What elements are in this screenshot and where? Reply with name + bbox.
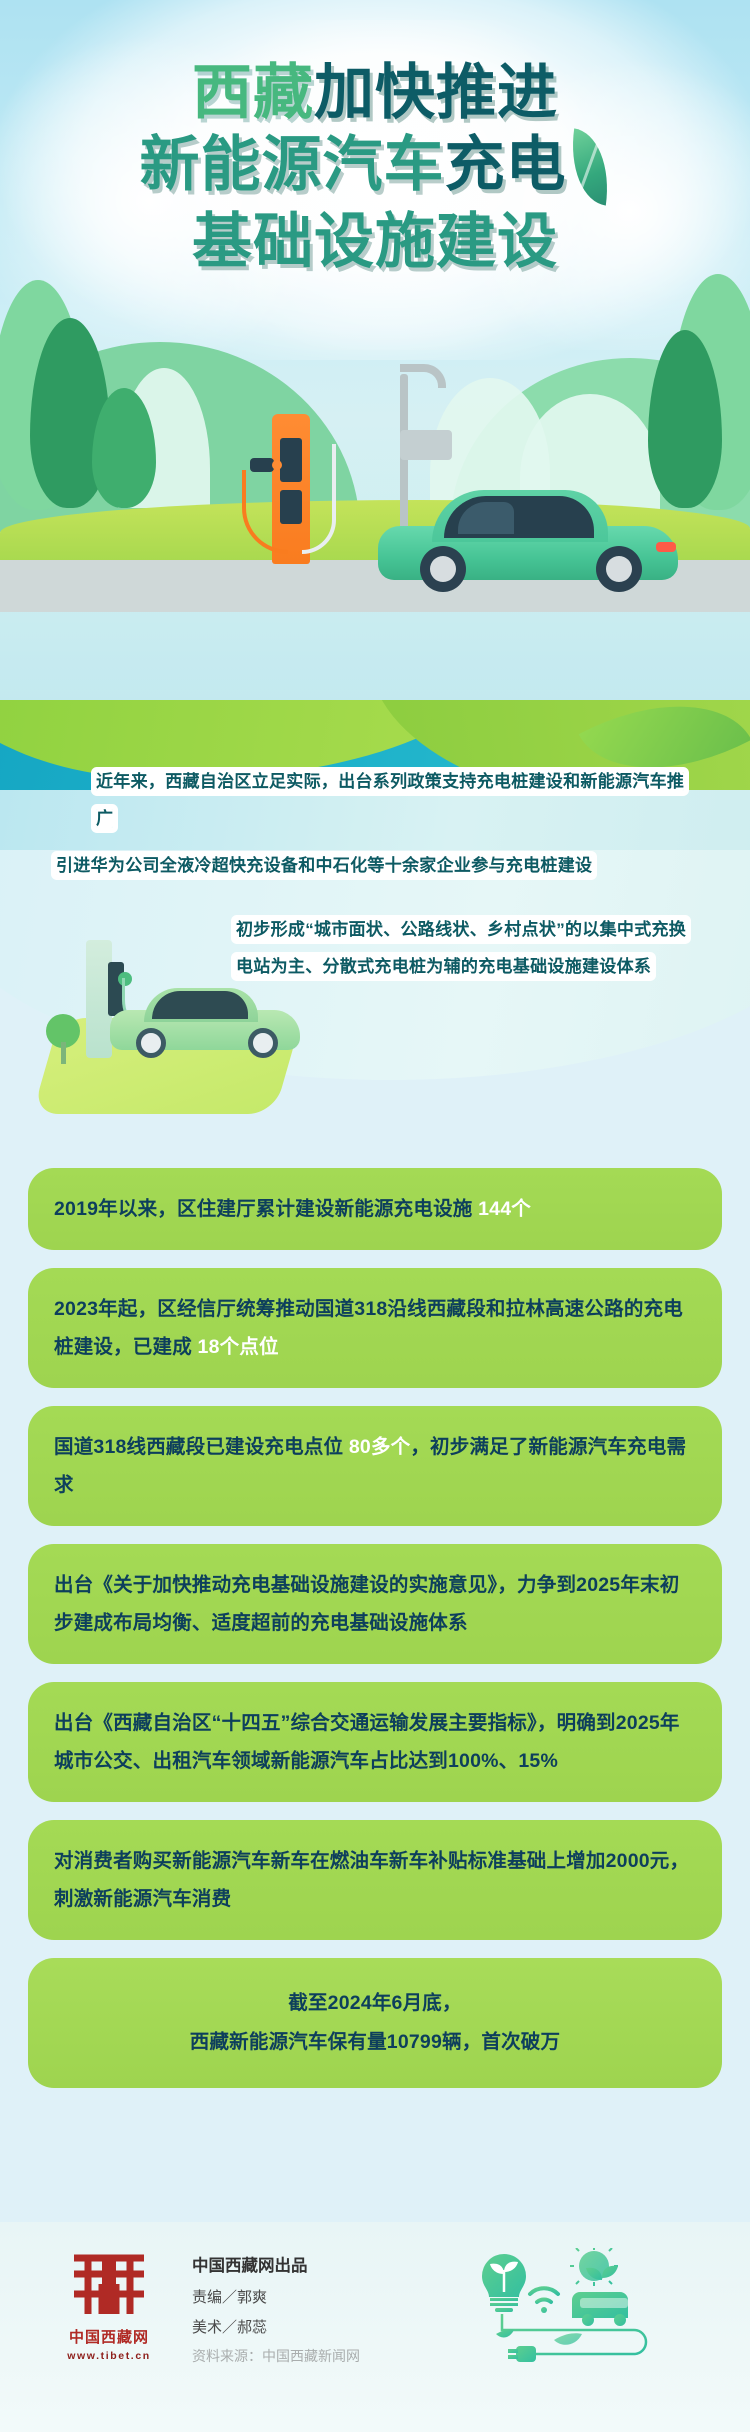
summary-line-1: 截至2024年6月底，: [288, 1992, 461, 2014]
plug-head-icon: [508, 2346, 536, 2362]
footer-art: 美术／郝蕊: [192, 2316, 360, 2337]
title-line1-part1: 西藏: [192, 59, 314, 126]
eco-icons-group: [468, 2248, 658, 2368]
summary-card: 截至2024年6月底， 西藏新能源汽车保有量10799辆，首次破万: [28, 1958, 722, 2088]
logo-url: www.tibet.cn: [54, 2350, 164, 2362]
footer-title: 中国西藏网出品: [192, 2252, 360, 2276]
footer-source: 资料来源：中国西藏新闻网: [192, 2346, 360, 2366]
tree-trunk: [61, 1042, 66, 1064]
intro-paragraph-1: 近年来，西藏自治区立足实际，出台系列政策支持充电桩建设和新能源汽车推广: [96, 764, 696, 837]
intro-section: 近年来，西藏自治区立足实际，出台系列政策支持充电桩建设和新能源汽车推广 引进华为…: [0, 700, 750, 1180]
infographic-page: 西藏加快推进 新能源汽车充电 基础设施建设 近年来，西藏自治区立足实际，出台系列…: [0, 0, 750, 2432]
fact-card: 2019年以来，区住建厅累计建设新能源充电设施 144个: [28, 1168, 722, 1250]
card-text: 国道318线西藏段已建设充电点位: [54, 1436, 349, 1458]
title-line2-part2: 充电: [445, 131, 567, 198]
title-line2-part1: 新能源汽车: [140, 131, 445, 198]
car-wheel: [596, 546, 642, 592]
summary-line-2: 西藏新能源汽车保有量10799辆，首次破万: [190, 2031, 560, 2053]
intro-paragraph-3: 初步形成“城市面状、公路线状、乡村点状”的以集中式充换电站为主、分散式充电桩为辅…: [236, 912, 696, 985]
eco-illustration: [468, 2248, 658, 2368]
wifi-icon: [526, 2288, 562, 2318]
card-text: 出台《关于加快推动充电基础设施建设的实施意见》，力争到2025年末初步建成布局均…: [54, 1574, 679, 1634]
card-highlight: 18个点位: [198, 1336, 279, 1358]
fact-card: 国道318线西藏段已建设充电点位 80多个，初步满足了新能源汽车充电需求: [28, 1406, 722, 1526]
card-text: 出台《西藏自治区“十四五”综合交通运输发展主要指标》，明确到2025年城市公交、…: [54, 1712, 680, 1772]
leaf-icon: [564, 129, 616, 206]
leaf-icon: [554, 2333, 582, 2345]
footer-editor: 责编／郭爽: [192, 2286, 360, 2307]
charging-cable-secondary: [302, 444, 336, 554]
card-text: 2019年以来，区住建厅累计建设新能源充电设施: [54, 1198, 478, 1220]
tibet-net-logo-icon: [62, 2250, 156, 2322]
title-line1-part2: 加快推进: [314, 59, 558, 126]
lightbulb-icon: [482, 2254, 526, 2312]
hero-section: 西藏加快推进 新能源汽车充电 基础设施建设: [0, 0, 750, 760]
card-highlight: 80多个: [349, 1436, 411, 1458]
fact-card: 出台《西藏自治区“十四五”综合交通运输发展主要指标》，明确到2025年城市公交、…: [28, 1682, 722, 1802]
eco-car-icon: [572, 2266, 628, 2326]
car-wheel: [248, 1028, 278, 1058]
charging-pile-icon: [272, 414, 310, 564]
car-window: [152, 991, 248, 1019]
fact-card: 2023年起，区经信厅统筹推动国道318沿线西藏段和拉林高速公路的充电桩建设，已…: [28, 1268, 722, 1388]
footer-credits: 中国西藏网出品 责编／郭爽 美术／郝蕊 资料来源：中国西藏新闻网: [192, 2250, 360, 2366]
car-illustration: [110, 984, 300, 1058]
car-wheel: [136, 1028, 166, 1058]
intro-paragraph-2: 引进华为公司全液冷超快充设备和中石化等十余家企业参与充电桩建设: [56, 848, 696, 885]
footer-section: 中国西藏网 www.tibet.cn 中国西藏网出品 责编／郭爽 美术／郝蕊 资…: [0, 2222, 750, 2432]
road-sign: [400, 430, 452, 460]
card-highlight: 144个: [478, 1198, 531, 1220]
hero-car-illustration: [378, 496, 678, 592]
leaf-icon: [496, 2330, 514, 2338]
street-lamp-arm: [400, 364, 446, 388]
logo-glyph: [62, 2250, 156, 2322]
page-title: 西藏加快推进 新能源汽车充电 基础设施建设: [0, 62, 750, 272]
card-text: 2023年起，区经信厅统筹推动国道318沿线西藏段和拉林高速公路的充电桩建设，已…: [54, 1298, 683, 1358]
fact-card-list: 2019年以来，区住建厅累计建设新能源充电设施 144个 2023年起，区经信厅…: [0, 1168, 750, 2106]
logo-name: 中国西藏网: [54, 2326, 164, 2347]
logo: 中国西藏网 www.tibet.cn: [54, 2250, 164, 2362]
title-line3: 基础设施建设: [192, 208, 558, 275]
card-text: 对消费者购买新能源汽车新车在燃油车新车补贴标准基础上增加2000元，刺激新能源汽…: [54, 1850, 689, 1910]
fact-card: 出台《关于加快推动充电基础设施建设的实施意见》，力争到2025年末初步建成布局均…: [28, 1544, 722, 1664]
car-wheel: [420, 546, 466, 592]
car-taillight: [656, 542, 676, 552]
fact-card: 对消费者购买新能源汽车新车在燃油车新车补贴标准基础上增加2000元，刺激新能源汽…: [28, 1820, 722, 1940]
